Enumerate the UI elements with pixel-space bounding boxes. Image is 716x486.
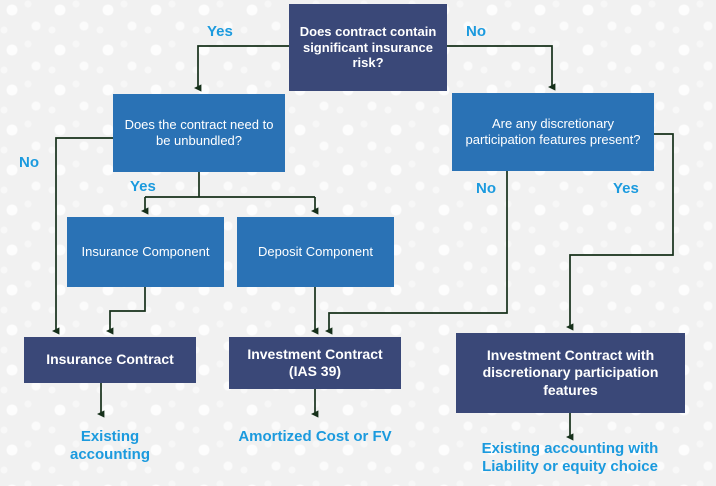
node-insurance-component[interactable]: Insurance Component <box>67 217 224 287</box>
node-investment-contract-line-1: Investment Contract <box>247 346 382 362</box>
node-question-unbundled[interactable]: Does the contract need to be unbundled? <box>113 94 285 172</box>
outcome-existing-accounting: Existing accounting <box>30 428 190 465</box>
edge-label-yes-unbundled: Yes <box>130 178 156 195</box>
outcome-liability-equity-line-2: Liability or equity choice <box>482 458 658 475</box>
edge-label-no-discretionary: No <box>476 180 496 197</box>
edge-label-yes-insurance-risk: Yes <box>207 23 233 40</box>
outcome-liability-equity-line-1: Existing accounting with <box>482 440 659 457</box>
outcome-amortized-cost-or-fv: Amortized Cost or FV <box>225 428 405 446</box>
edge-no-to-discretionary <box>447 46 552 87</box>
edge-label-no-insurance-risk: No <box>466 23 486 40</box>
node-investment-contract-label: Investment Contract (IAS 39) <box>247 346 382 380</box>
edge-label-no-unbundled: No <box>19 154 39 171</box>
node-investment-contract[interactable]: Investment Contract (IAS 39) <box>229 337 401 389</box>
node-investment-contract-dpf[interactable]: Investment Contract with discretionary p… <box>456 333 685 413</box>
flowchart-canvas: Does contract contain significant insura… <box>0 0 716 486</box>
edge-yes-to-unbundled <box>198 46 289 88</box>
node-question-insurance-risk[interactable]: Does contract contain significant insura… <box>289 4 447 91</box>
edge-insurance-component-to-insurance-contract <box>110 287 145 331</box>
outcome-existing-accounting-line-2: accounting <box>70 446 150 463</box>
edge-label-yes-discretionary: Yes <box>613 180 639 197</box>
outcome-existing-accounting-line-1: Existing <box>81 428 139 445</box>
node-question-discretionary-participation[interactable]: Are any discretionary participation feat… <box>452 93 654 171</box>
outcome-existing-accounting-liability-or-equity: Existing accounting with Liability or eq… <box>455 440 685 477</box>
node-investment-contract-line-2: (IAS 39) <box>289 363 341 379</box>
node-insurance-contract[interactable]: Insurance Contract <box>24 337 196 383</box>
outcome-amortized-cost-line-1: Amortized Cost or FV <box>238 428 391 445</box>
node-deposit-component[interactable]: Deposit Component <box>237 217 394 287</box>
